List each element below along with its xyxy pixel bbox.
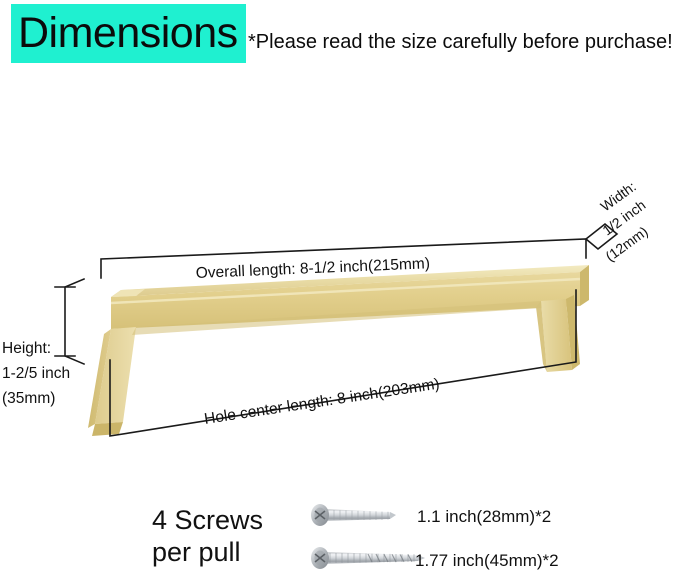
dimensions-infographic: Dimensions *Please read the size careful… <box>0 0 679 586</box>
header-note: *Please read the size carefully before p… <box>248 29 673 55</box>
screw-label-long: 1.77 inch(45mm)*2 <box>415 550 559 571</box>
screws-section: 4 Screws per pull <box>0 492 679 586</box>
height-label-line3: (35mm) <box>2 390 55 407</box>
screw-icon <box>306 542 432 572</box>
screws-count-label: 4 Screws <box>152 504 263 537</box>
screw-icon <box>306 500 402 530</box>
diagram-canvas: Overall length: 8-1/2 inch(215mm) Width:… <box>0 72 679 472</box>
cabinet-pull-handle-graphic <box>88 265 589 436</box>
screws-per-pull-label: per pull <box>152 536 241 569</box>
header: Dimensions *Please read the size careful… <box>0 0 679 72</box>
handle-dimension-diagram: Overall length: 8-1/2 inch(215mm) Width:… <box>0 72 679 472</box>
height-label-line2: 1-2/5 inch <box>2 365 70 382</box>
height-label-line1: Height: <box>2 340 51 357</box>
width-dimension: Width: 1/2 inch (12mm) <box>586 178 651 264</box>
handle-right-end-cap <box>580 265 589 306</box>
page-title: Dimensions <box>18 6 238 61</box>
height-dimension: Height: 1-2/5 inch (35mm) <box>2 279 84 407</box>
hole-center-length-label: Hole center length: 8 inch(203mm) <box>203 376 441 428</box>
screw-label-short: 1.1 inch(28mm)*2 <box>417 506 551 527</box>
